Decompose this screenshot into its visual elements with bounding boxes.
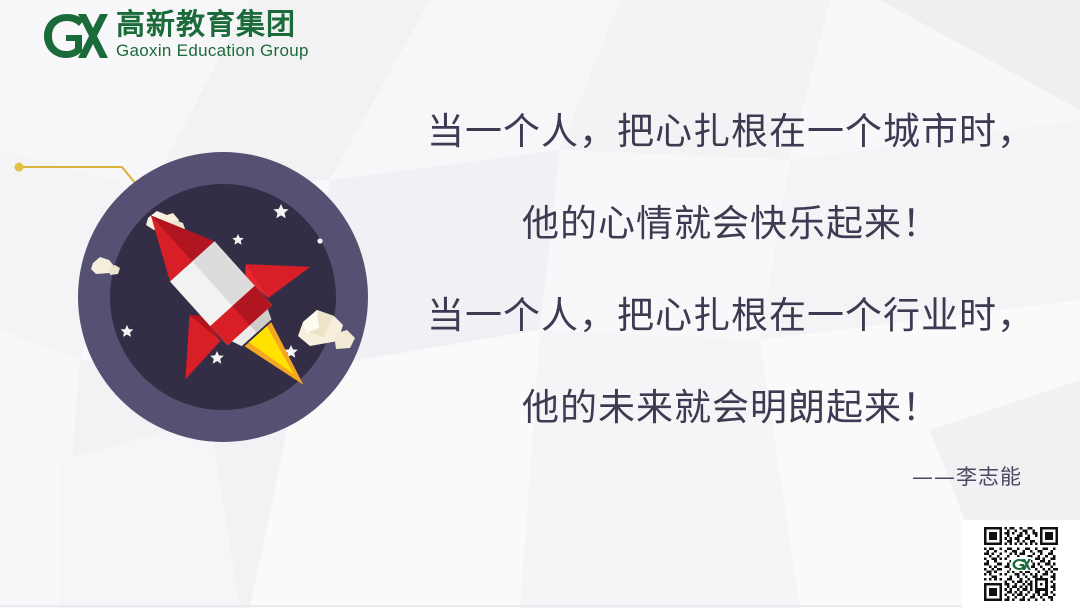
qr-code-panel [962, 520, 1080, 608]
quote-line-2: 他的心情就会快乐起来！ [416, 178, 1046, 270]
brand-name-cn: 高新教育集团 [116, 8, 309, 40]
slide-canvas: 高新教育集团 Gaoxin Education Group [0, 0, 1080, 608]
brand-name-en: Gaoxin Education Group [116, 41, 309, 60]
brand-logo: 高新教育集团 Gaoxin Education Group [34, 8, 309, 64]
quote-block: 当一个人，把心扎根在一个城市时， 他的心情就会快乐起来！ 当一个人，把心扎根在一… [416, 86, 1046, 454]
qr-center-logo [1011, 557, 1031, 571]
qr-code[interactable] [984, 527, 1058, 601]
brand-logo-text: 高新教育集团 Gaoxin Education Group [116, 8, 309, 60]
gx-monogram-icon [34, 8, 108, 64]
quote-line-3: 当一个人，把心扎根在一个行业时， [416, 270, 1046, 362]
quote-line-4: 他的未来就会明朗起来！ [416, 362, 1046, 454]
quote-attribution: ——李志能 [416, 462, 1046, 492]
rocket-in-space-badge [0, 140, 400, 460]
quote-line-1: 当一个人，把心扎根在一个城市时， [416, 86, 1046, 178]
